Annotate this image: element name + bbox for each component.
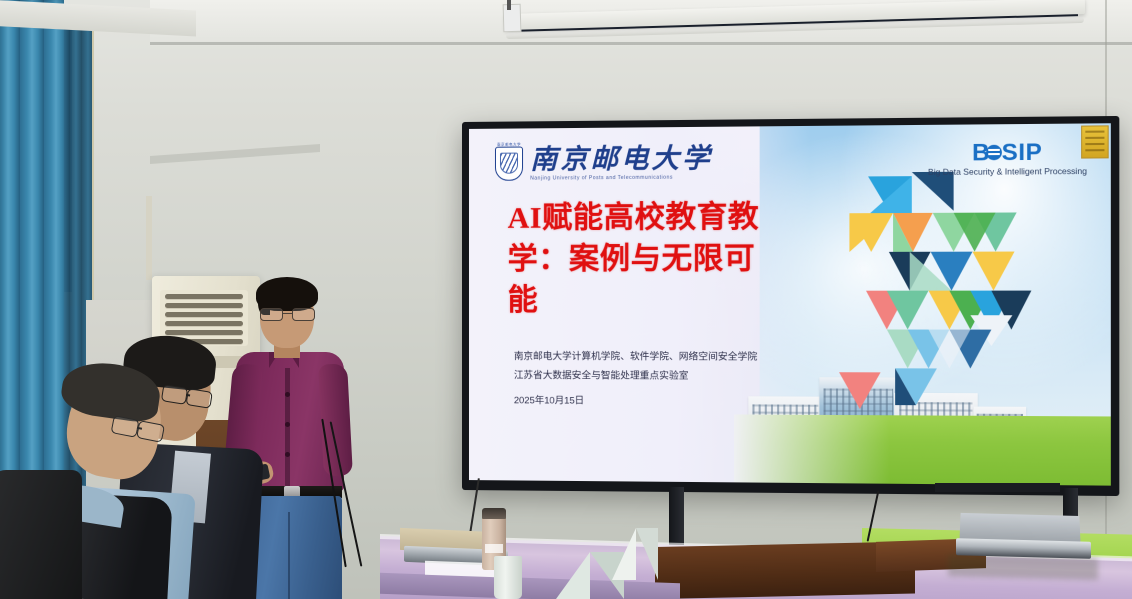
university-crest-icon: 南京邮电大学 [495,147,523,181]
presenter-glasses-icon [260,308,315,319]
presenter-shirt-button [285,422,290,427]
university-name-cn: 南京邮电大学 [530,145,712,174]
wall-mounted-television[interactable]: 南京邮电大学 南京邮电大学 Nanjing University of Post… [462,116,1119,496]
slide-metadata: 陈蕾 教授/博导 南京邮电大学计算机学院、软件学院、网络空间安全学院 江苏省大数… [514,350,767,409]
tv-energy-label-sticker [1081,125,1109,158]
university-logo: 南京邮电大学 南京邮电大学 Nanjing University of Post… [495,145,713,182]
paper-cup[interactable] [494,556,522,599]
presenter-hair [256,277,318,311]
conference-room-scene: 南京邮电大学 南京邮电大学 Nanjing University of Post… [0,0,1132,599]
mosaic-svg [798,171,1049,418]
slide-title: AI赋能高校教育教学：案例与无限可能 [508,197,787,321]
projection-screen-hook-icon [507,0,511,10]
tv-screen[interactable]: 南京邮电大学 南京邮电大学 Nanjing University of Post… [469,123,1111,485]
campus-lawn-fade [734,414,891,484]
tv-stand-leg-left [669,487,684,547]
university-name-en: Nanjing University of Posts and Telecomm… [530,174,712,181]
ceiling-edge [150,42,1132,45]
thermos-label [485,544,503,553]
globe-icon [986,145,1002,161]
presentation-slide: 南京邮电大学 南京邮电大学 Nanjing University of Post… [469,123,1111,485]
presenter-shirt-button [285,452,290,457]
laptop-right-base[interactable] [956,538,1091,559]
presenter-affiliation: 南京邮电大学计算机学院、软件学院、网络空间安全学院 [514,350,767,366]
presenter-shirt-placket [285,368,290,492]
office-chair-backrest[interactable] [0,470,82,599]
projection-screen-endcap [503,4,522,32]
presenter-shirt-button [285,392,290,397]
lab-acronym-sip: SIP [1002,140,1043,164]
geometric-diamond-mosaic-graphic [798,171,1049,418]
lab-acronym: B SIP [928,140,1087,165]
ac-pipe [146,196,152,280]
lab-logo: B SIP Big Data Security & Intelligent Pr… [928,140,1087,177]
thermos-lid[interactable] [482,508,506,519]
name-card-1 [556,552,590,599]
slide-date: 2025年10月15日 [514,393,767,409]
tv-stand-crossbar [935,483,1060,492]
name-card-2-back [636,528,658,580]
presenter-lab: 江苏省大数据安全与智能处理重点实验室 [514,369,767,385]
crest-top-text: 南京邮电大学 [496,142,522,147]
lab-full-name: Big Data Security & Intelligent Processi… [928,167,1087,177]
name-card-2 [612,528,636,580]
